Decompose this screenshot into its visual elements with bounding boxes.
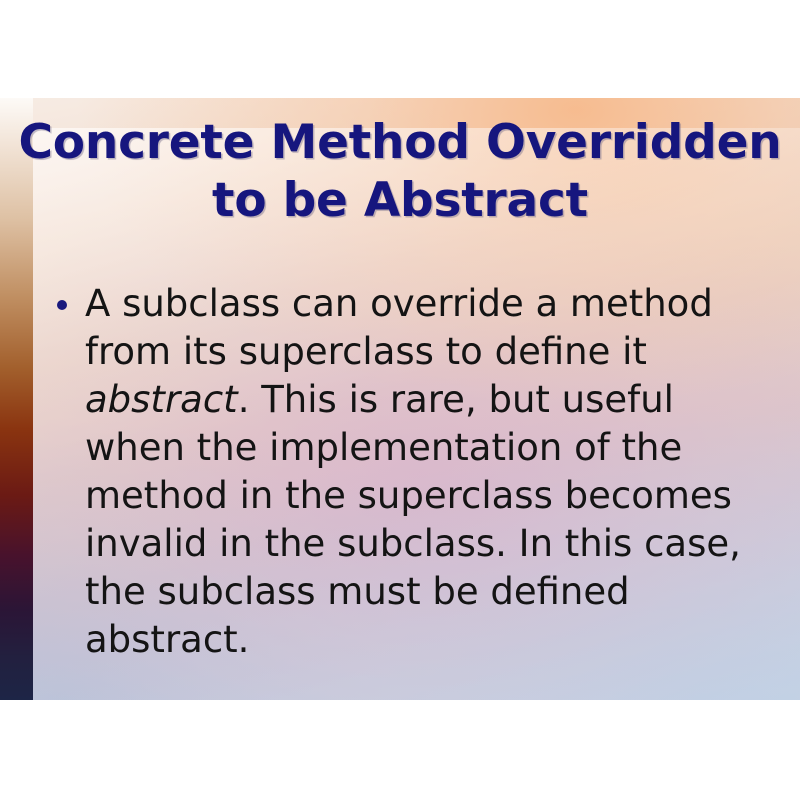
bullet-text: A subclass can override a method from it… (85, 280, 760, 664)
slide-title: Concrete Method Overridden to be Abstrac… (0, 114, 800, 230)
list-item: A subclass can override a method from it… (33, 280, 800, 664)
bullet-text-emphasis: abstract (85, 378, 238, 421)
slide-page: Concrete Method Overridden to be Abstrac… (0, 0, 800, 800)
title-line-2: to be Abstract (0, 172, 800, 230)
bullet-text-prefix: A subclass can override a method from it… (85, 282, 713, 373)
slide-body: A subclass can override a method from it… (33, 280, 800, 700)
presentation-slide: Concrete Method Overridden to be Abstrac… (0, 98, 800, 700)
bullet-marker-icon (57, 300, 67, 310)
title-line-1: Concrete Method Overridden (0, 114, 800, 172)
